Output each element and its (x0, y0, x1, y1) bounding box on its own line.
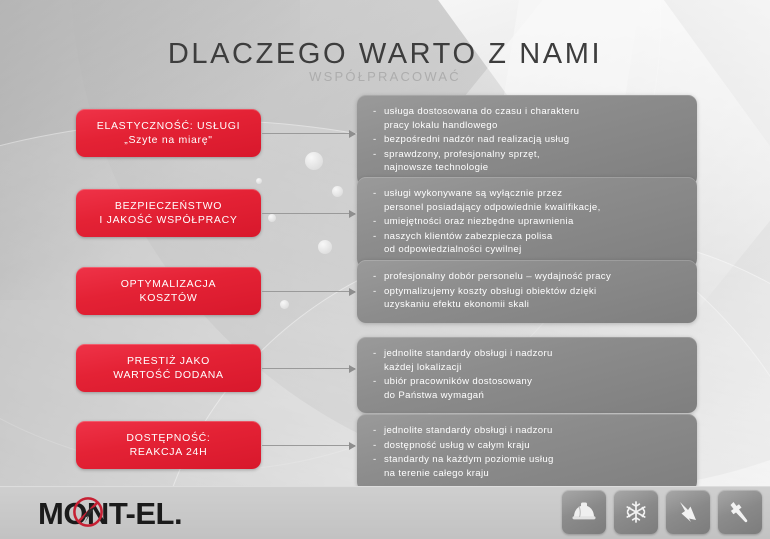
detail-box[interactable]: profesjonalny dobór personelu – wydajnoś… (357, 260, 697, 323)
category-label-line: ELASTYCZNOŚĆ: USŁUGI (97, 119, 241, 133)
category-label-line: KOSZTÓW (140, 291, 198, 305)
detail-bullet-item: bezpośredni nadzór nad realizacją usług (373, 133, 683, 147)
detail-bullet-item: optymalizujemy koszty obsługi obiektów d… (373, 285, 683, 312)
detail-box[interactable]: jednolite standardy obsługi i nadzoru ka… (357, 337, 697, 413)
category-label-box[interactable]: OPTYMALIZACJAKOSZTÓW (76, 267, 261, 315)
lightning-bolt-icon[interactable] (666, 490, 710, 534)
detail-bullet-item: jednolite standardy obsługi i nadzoru (373, 424, 683, 438)
category-label-box[interactable]: PRESTIŻ JAKOWARTOŚĆ DODANA (76, 344, 261, 392)
slide-footer: MONT-EL. (0, 486, 770, 539)
detail-box[interactable]: jednolite standardy obsługi i nadzorudos… (357, 414, 697, 491)
brand-logo-text: MONT-EL. (38, 498, 182, 529)
detail-bullet-item: profesjonalny dobór personelu – wydajnoś… (373, 270, 683, 284)
detail-bullet-list: jednolite standardy obsługi i nadzoru ka… (373, 347, 683, 402)
detail-bullet-item: sprawdzony, profesjonalny sprzęt, najnow… (373, 148, 683, 175)
detail-bullet-list: profesjonalny dobór personelu – wydajnoś… (373, 270, 683, 312)
detail-bullet-item: usługa dostosowana do czasu i charakteru… (373, 105, 683, 132)
category-label-line: BEZPIECZEŃSTWO (115, 199, 222, 213)
detail-bullet-item: dostępność usług w całym kraju (373, 439, 683, 453)
detail-bullet-item: ubiór pracowników dostosowany do Państwa… (373, 375, 683, 402)
hard-hat-icon[interactable] (562, 490, 606, 534)
category-label-line: PRESTIŻ JAKO (127, 354, 210, 368)
snowflake-icon[interactable] (614, 490, 658, 534)
detail-bullet-item: standardy na każdym poziomie usług na te… (373, 453, 683, 480)
category-label-box[interactable]: DOSTĘPNOŚĆ:REAKCJA 24H (76, 421, 261, 469)
category-label-line: REAKCJA 24H (130, 445, 208, 459)
connector-arrow (262, 133, 355, 134)
detail-box[interactable]: usługi wykonywane są wyłącznie przez per… (357, 177, 697, 268)
detail-bullet-item: jednolite standardy obsługi i nadzoru ka… (373, 347, 683, 374)
slide-header: DLACZEGO WARTO Z NAMI WSPÓŁPRACOWAĆ (0, 38, 770, 84)
detail-bullet-list: jednolite standardy obsługi i nadzorudos… (373, 424, 683, 480)
detail-bullet-item: naszych klientów zabezpiecza polisa od o… (373, 230, 683, 257)
category-label-line: OPTYMALIZACJA (121, 277, 216, 291)
connector-arrow (262, 445, 355, 446)
page-subtitle: WSPÓŁPRACOWAĆ (0, 69, 770, 84)
category-label-line: WARTOŚĆ DODANA (113, 368, 224, 382)
slide-canvas: DLACZEGO WARTO Z NAMI WSPÓŁPRACOWAĆ ELAS… (0, 0, 770, 539)
connector-arrow (262, 368, 355, 369)
detail-bullet-list: usługi wykonywane są wyłącznie przez per… (373, 187, 683, 257)
category-label-box[interactable]: BEZPIECZEŃSTWOI JAKOŚĆ WSPÓŁPRACY (76, 189, 261, 237)
detail-box[interactable]: usługa dostosowana do czasu i charakteru… (357, 95, 697, 186)
category-label-line: „Szyte na miarę" (124, 133, 212, 147)
category-label-line: I JAKOŚĆ WSPÓŁPRACY (99, 213, 237, 227)
category-label-line: DOSTĘPNOŚĆ: (126, 431, 210, 445)
wrench-icon[interactable] (718, 490, 762, 534)
detail-bullet-item: umiejętności oraz niezbędne uprawnienia (373, 215, 683, 229)
connector-arrow (262, 291, 355, 292)
detail-bullet-item: usługi wykonywane są wyłącznie przez per… (373, 187, 683, 214)
connector-arrow (262, 213, 355, 214)
service-icon-bar (562, 490, 762, 534)
detail-bullet-list: usługa dostosowana do czasu i charakteru… (373, 105, 683, 175)
page-title: DLACZEGO WARTO Z NAMI (0, 38, 770, 71)
category-label-box[interactable]: ELASTYCZNOŚĆ: USŁUGI„Szyte na miarę" (76, 109, 261, 157)
brand-logo: MONT-EL. (38, 493, 182, 533)
